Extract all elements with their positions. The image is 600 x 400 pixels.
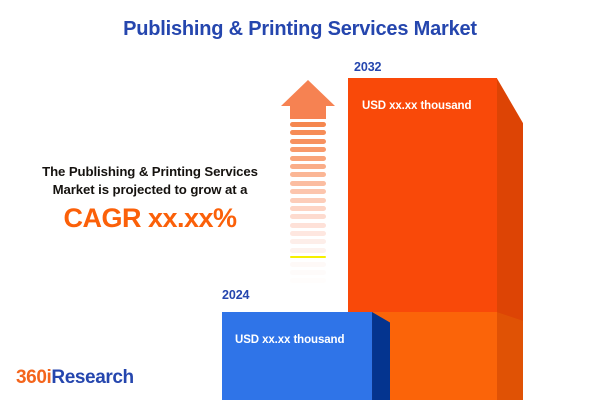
arrow-bar-13 xyxy=(290,231,326,236)
arrow-bar-9 xyxy=(290,198,326,203)
market-infographic: Publishing & Printing Services Market Th… xyxy=(0,0,600,400)
logo-360i-text: 360i xyxy=(16,367,51,388)
arrow-bar-3 xyxy=(290,147,326,152)
arrow-gradient-bars xyxy=(290,122,326,292)
arrow-bar-14 xyxy=(290,239,326,244)
bar-2024-front-face: USD xx.xx thousand xyxy=(222,312,372,400)
arrow-bar-1 xyxy=(290,130,326,135)
arrow-bar-5 xyxy=(290,164,326,169)
arrow-bar-7 xyxy=(290,181,326,186)
bar-year-label-2024: 2024 xyxy=(222,288,249,302)
growth-arrow xyxy=(281,80,335,295)
arrow-bar-8 xyxy=(290,189,326,194)
statement-line-1: The Publishing & Printing Services xyxy=(16,163,284,181)
arrow-bar-4 xyxy=(290,156,326,161)
bar-2024: USD xx.xx thousand xyxy=(222,312,390,400)
cagr-value: CAGR xx.xx% xyxy=(16,204,284,234)
arrow-bar-10 xyxy=(290,206,326,211)
arrow-bar-11 xyxy=(290,214,326,219)
arrow-bar-2 xyxy=(290,139,326,144)
logo-research-text: Research xyxy=(51,367,133,388)
arrow-bar-16 xyxy=(290,256,326,258)
arrow-bar-18 xyxy=(290,270,326,275)
brand-logo: 360iResearch xyxy=(16,367,134,389)
statement-line-2: Market is projected to grow at a xyxy=(16,181,284,199)
arrow-head-icon xyxy=(281,80,335,106)
arrow-bar-6 xyxy=(290,172,326,177)
arrow-neck xyxy=(290,106,326,119)
arrow-bar-15 xyxy=(290,248,326,253)
page-title: Publishing & Printing Services Market xyxy=(0,18,600,41)
bar-value-label-2032: USD xx.xx thousand xyxy=(362,100,471,112)
bar-value-label-2024: USD xx.xx thousand xyxy=(235,334,344,346)
arrow-bar-19 xyxy=(290,278,326,283)
arrow-bar-0 xyxy=(290,122,326,127)
bar-year-label-2032: 2032 xyxy=(354,60,381,74)
arrow-bar-17 xyxy=(290,262,326,267)
statement-block: The Publishing & Printing Services Marke… xyxy=(16,163,284,234)
arrow-bar-12 xyxy=(290,223,326,228)
